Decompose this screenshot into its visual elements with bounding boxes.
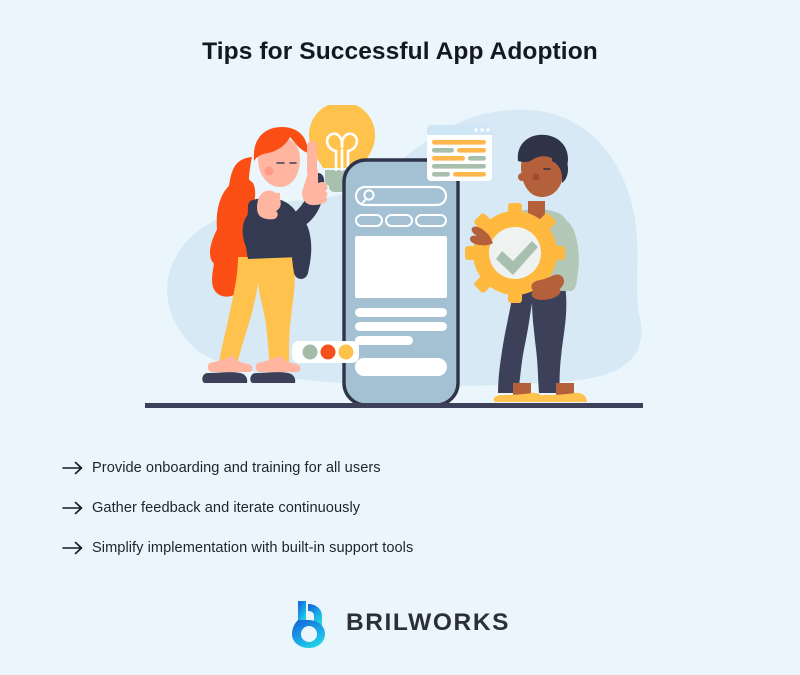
phone-mockup[interactable] xyxy=(344,160,458,405)
phone-content-block xyxy=(355,236,447,298)
list-item: Provide onboarding and training for all … xyxy=(62,448,662,488)
card-bar xyxy=(457,148,486,153)
status-dot-amber xyxy=(339,345,354,360)
list-item-label: Gather feedback and iterate continuously xyxy=(92,500,360,516)
card-dot xyxy=(480,128,483,131)
brilworks-wordmark: BRILWORKS xyxy=(346,609,510,637)
arrow-right-icon xyxy=(62,461,92,475)
arrow-right-icon xyxy=(62,501,92,515)
card-bar xyxy=(432,164,486,169)
card-bar xyxy=(432,172,450,177)
status-dot-red xyxy=(321,345,336,360)
phone-text-line xyxy=(355,336,413,345)
infographic-page: Tips for Successful App Adoption xyxy=(0,0,800,675)
card-bar xyxy=(432,148,454,153)
status-dot-green xyxy=(303,345,318,360)
ground-line xyxy=(145,403,643,408)
app-adoption-illustration xyxy=(140,105,660,420)
card-bar xyxy=(432,156,465,161)
page-title: Tips for Successful App Adoption xyxy=(0,38,800,66)
floating-content-card[interactable] xyxy=(427,125,492,181)
phone-text-line xyxy=(355,308,447,317)
phone-text-line xyxy=(355,322,447,331)
list-item-label: Simplify implementation with built-in su… xyxy=(92,540,413,556)
card-dot xyxy=(474,128,477,131)
list-item: Gather feedback and iterate continuously xyxy=(62,488,662,528)
phone-cta-button[interactable] xyxy=(355,358,447,376)
card-bar xyxy=(432,140,486,145)
brilworks-logo[interactable]: BRILWORKS xyxy=(0,598,800,648)
arrow-right-icon xyxy=(62,541,92,555)
card-dot xyxy=(486,128,489,131)
brilworks-logo-mark xyxy=(290,598,335,648)
tips-list: Provide onboarding and training for all … xyxy=(62,448,662,568)
list-item: Simplify implementation with built-in su… xyxy=(62,528,662,568)
status-dots-widget[interactable] xyxy=(292,341,359,363)
card-bar xyxy=(468,156,486,161)
list-item-label: Provide onboarding and training for all … xyxy=(92,460,381,476)
card-bar xyxy=(453,172,486,177)
